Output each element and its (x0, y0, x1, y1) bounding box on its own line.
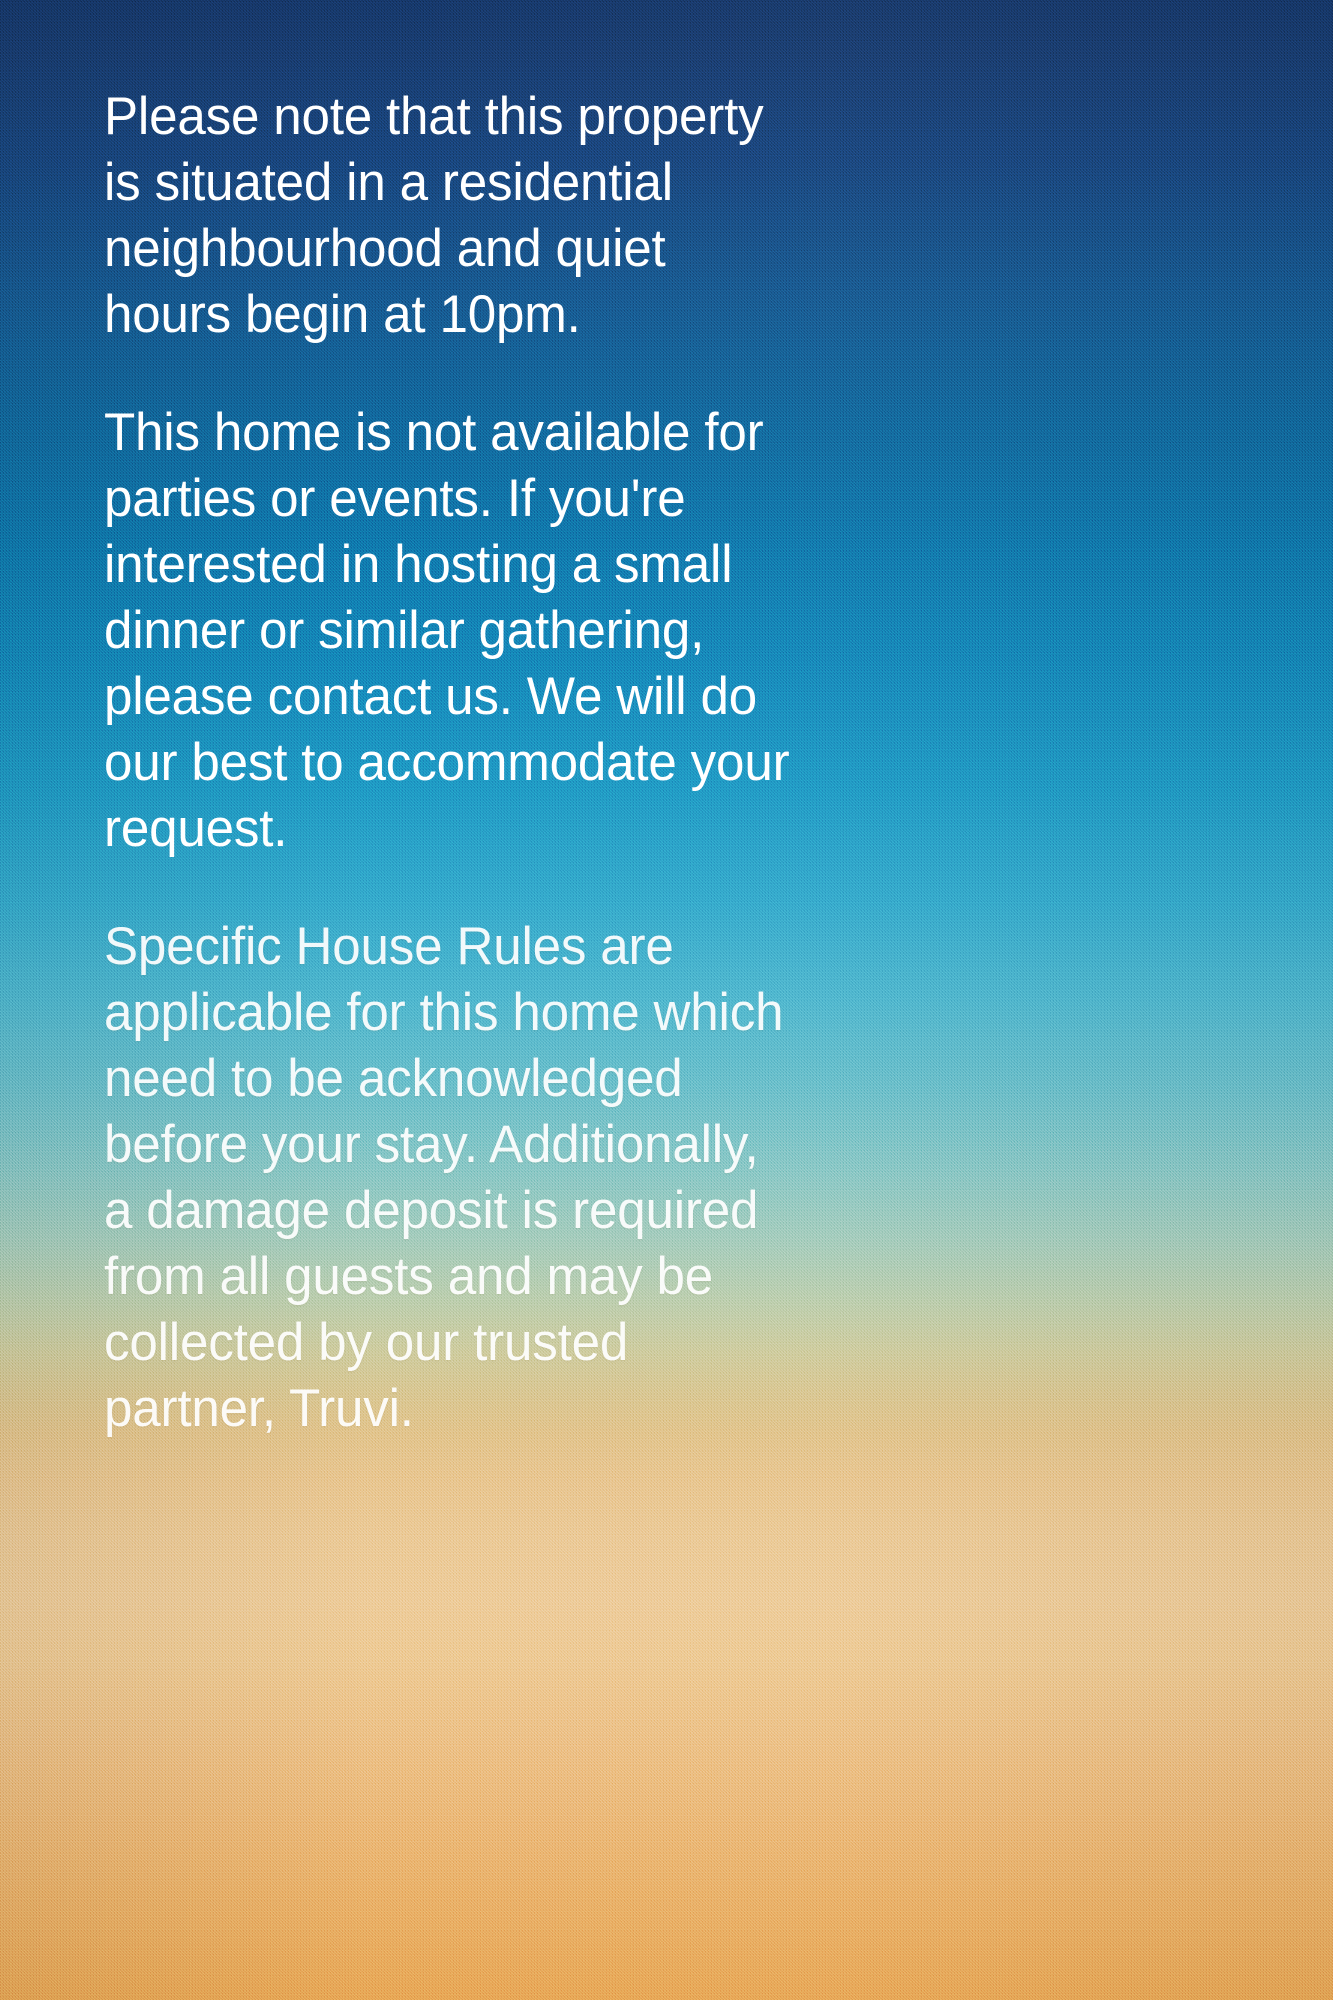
notice-text-block: Please note that this property is situat… (104, 84, 1264, 1442)
paragraph-parties-and-events: This home is not available for parties o… (104, 400, 1223, 862)
paragraph-specific-house-rules-and-deposit: Specific House Rules are applicable for … (104, 914, 1223, 1442)
paragraph-quiet-hours: Please note that this property is situat… (104, 84, 1223, 348)
notice-page: Please note that this property is situat… (0, 0, 1333, 2000)
